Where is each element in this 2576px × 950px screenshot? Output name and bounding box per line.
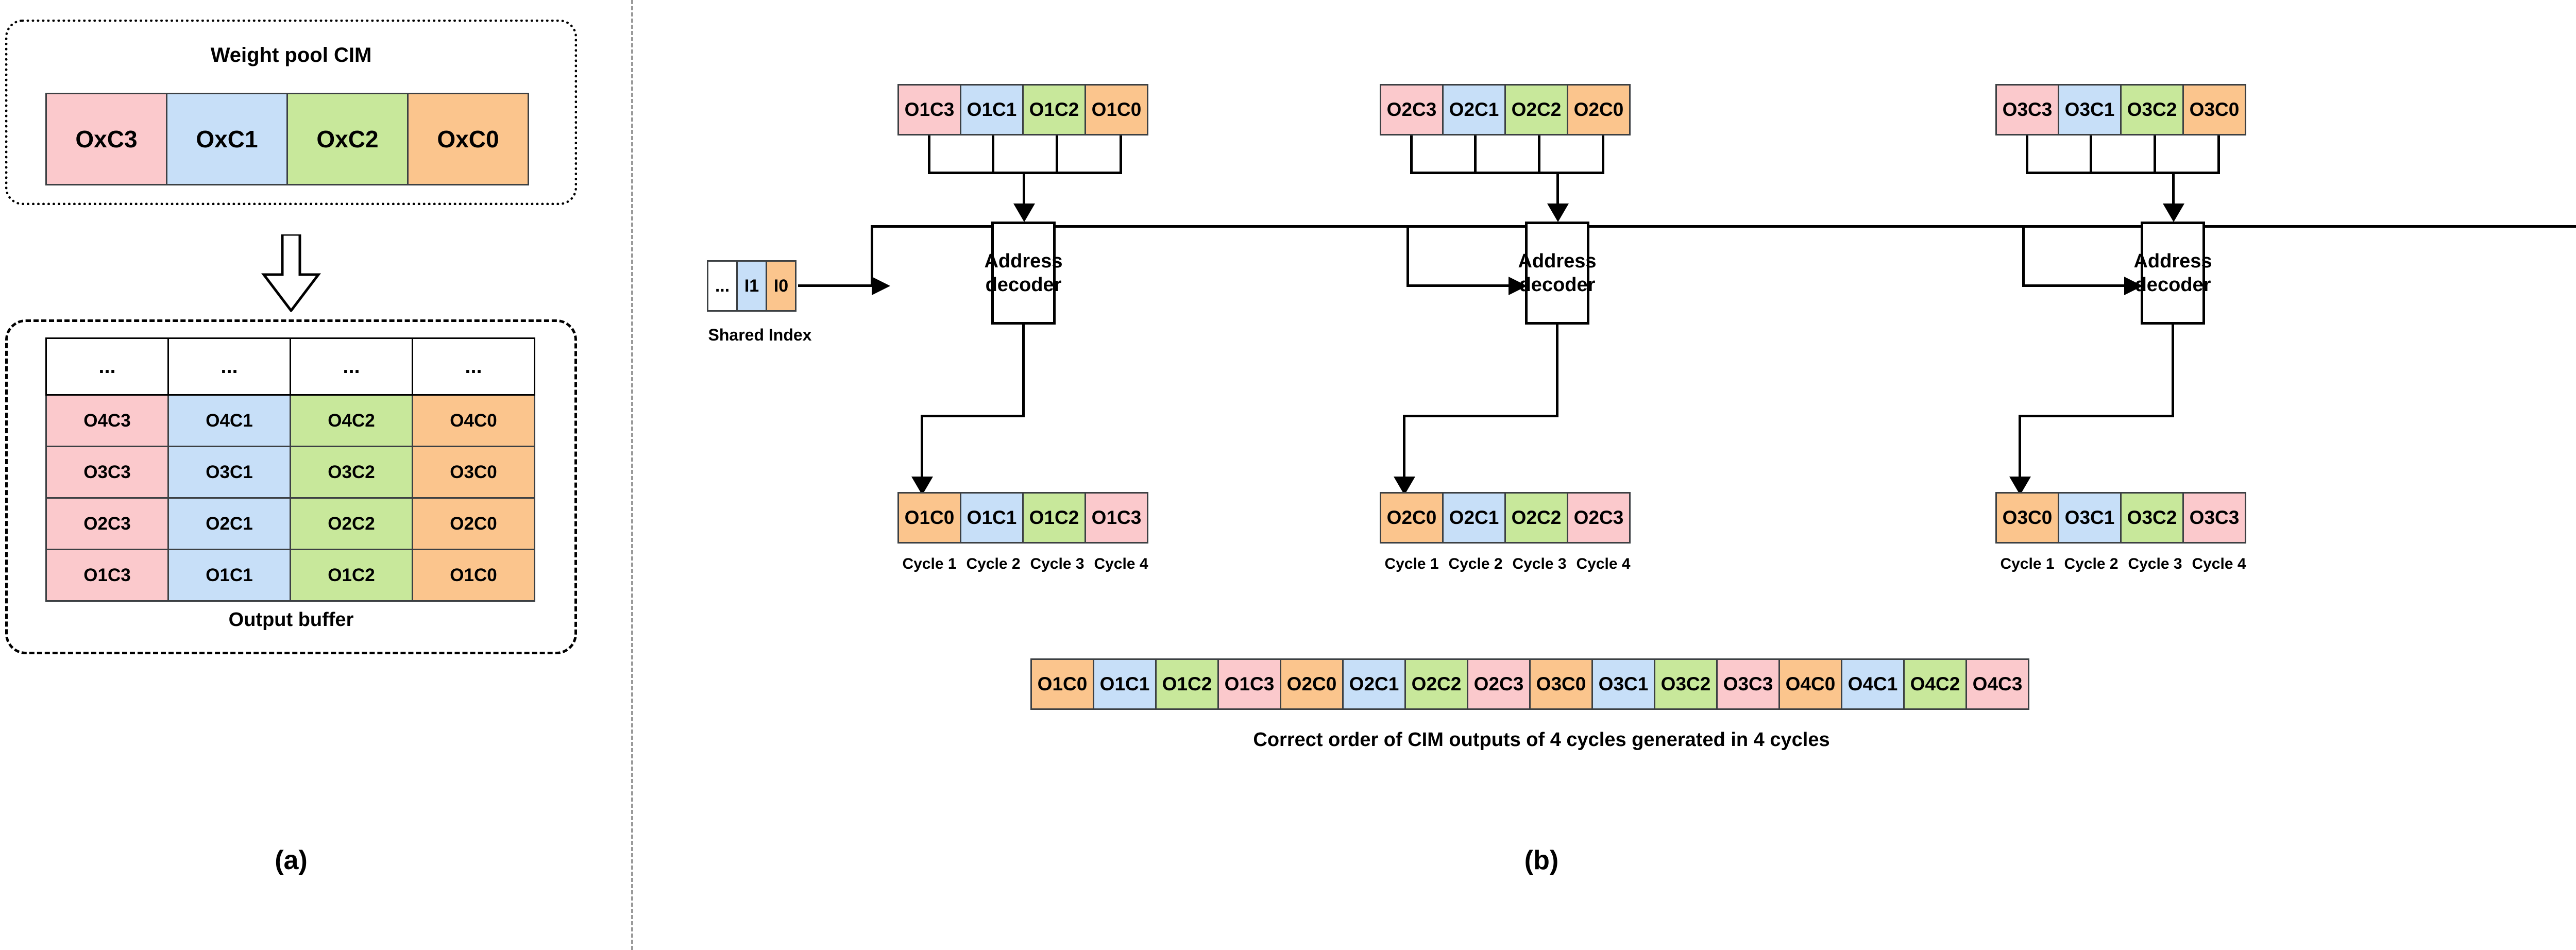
cim-output-cell: O1C3 bbox=[1084, 492, 1148, 544]
decoder-label-line2: decoder bbox=[1519, 273, 1596, 297]
final-sequence-cell: O1C0 bbox=[1030, 658, 1094, 710]
buffer-cell: O2C1 bbox=[168, 498, 291, 550]
cim-output-cell: O1C2 bbox=[1022, 492, 1086, 544]
cim-output-cell: O2C1 bbox=[1442, 492, 1506, 544]
cim-input-cell: O1C3 bbox=[897, 84, 961, 135]
cim-input-cell: O1C0 bbox=[1084, 84, 1148, 135]
cycle-label: Cycle 2 bbox=[2059, 555, 2123, 573]
final-sequence-cell: O4C2 bbox=[1903, 658, 1967, 710]
weight-pool-cim-title: Weight pool CIM bbox=[5, 44, 577, 67]
cim-input-cell: O3C3 bbox=[1995, 84, 2059, 135]
cim-output-cell: O3C0 bbox=[1995, 492, 2059, 544]
cycle-label: Cycle 1 bbox=[897, 555, 961, 573]
buffer-cell: O1C3 bbox=[46, 550, 168, 601]
shared-index-cell: I1 bbox=[736, 260, 767, 312]
buffer-cell: O4C1 bbox=[168, 395, 291, 447]
final-sequence-cell: O4C0 bbox=[1778, 658, 1842, 710]
buffer-cell: O3C0 bbox=[413, 447, 535, 498]
buffer-cell: O2C3 bbox=[46, 498, 168, 550]
shared-index-cell: ... bbox=[707, 260, 738, 312]
decoder-label-line1: Address bbox=[2133, 249, 2212, 273]
cim-output-cell: O2C0 bbox=[1380, 492, 1444, 544]
address-decoder-3: Address decoder bbox=[2141, 222, 2205, 325]
final-sequence-cell: O2C3 bbox=[1467, 658, 1531, 710]
shared-index-caption: Shared Index bbox=[685, 326, 835, 345]
table-row: O2C3 O2C1 O2C2 O2C0 bbox=[46, 498, 535, 550]
buffer-cell: O2C2 bbox=[291, 498, 413, 550]
cycle-label: Cycle 4 bbox=[1089, 555, 1153, 573]
final-sequence-row: O1C0 O1C1 O1C2 O1C3 O2C0 O2C1 O2C2 O2C3 … bbox=[1030, 658, 2029, 710]
arrow-head-icon bbox=[2163, 203, 2184, 222]
cim-output-cell: O1C0 bbox=[897, 492, 961, 544]
final-sequence-cell: O2C0 bbox=[1280, 658, 1344, 710]
cim-input-row-group-2: O2C3 O2C1 O2C2 O2C0 bbox=[1380, 84, 1631, 135]
final-sequence-cell: O1C1 bbox=[1093, 658, 1157, 710]
cycle-label: Cycle 2 bbox=[1444, 555, 1507, 573]
final-sequence-caption: Correct order of CIM outputs of 4 cycles… bbox=[1030, 729, 2053, 751]
shared-index-out-wire bbox=[798, 284, 873, 287]
decoder-label-line2: decoder bbox=[986, 273, 1062, 297]
table-row: O3C3 O3C1 O3C2 O3C0 bbox=[46, 447, 535, 498]
weight-pool-cim-strip: OxC3 OxC1 OxC2 OxC0 bbox=[45, 93, 529, 185]
buffer-head-cell: ... bbox=[168, 338, 291, 395]
shared-index-cell: I0 bbox=[766, 260, 796, 312]
shared-index-tap-3 bbox=[2022, 225, 2025, 286]
decoder-label-line1: Address bbox=[984, 249, 1062, 273]
cycle-label: Cycle 3 bbox=[1025, 555, 1089, 573]
address-decoder-1: Address decoder bbox=[991, 222, 1056, 325]
buffer-cell: O3C2 bbox=[291, 447, 413, 498]
panel-a-letter: (a) bbox=[5, 845, 577, 876]
buffer-cell: O1C1 bbox=[168, 550, 291, 601]
cim-input-cell: O1C2 bbox=[1022, 84, 1086, 135]
decoder-label-line1: Address bbox=[1518, 249, 1596, 273]
final-sequence-cell: O4C1 bbox=[1841, 658, 1905, 710]
buffer-cell: O2C0 bbox=[413, 498, 535, 550]
panel-b-letter: (b) bbox=[1030, 845, 2053, 876]
panel-a: Weight pool CIM OxC3 OxC1 OxC2 OxC0 ... … bbox=[0, 0, 616, 950]
cim-input-cell: O3C0 bbox=[2182, 84, 2246, 135]
cim-input-row-group-3: O3C3 O3C1 O3C2 O3C0 bbox=[1995, 84, 2246, 135]
final-sequence-cell: O1C2 bbox=[1155, 658, 1219, 710]
shared-index-strip: ... I1 I0 bbox=[707, 260, 796, 312]
panel-divider bbox=[631, 0, 633, 950]
buffer-cell: O1C0 bbox=[413, 550, 535, 601]
table-row: O1C3 O1C1 O1C2 O1C0 bbox=[46, 550, 535, 601]
buffer-cell: O3C1 bbox=[168, 447, 291, 498]
down-arrow-icon bbox=[260, 234, 322, 314]
cim-input-cell: O2C0 bbox=[1567, 84, 1631, 135]
buffer-head-cell: ... bbox=[291, 338, 413, 395]
cycle-label: Cycle 4 bbox=[1571, 555, 1635, 573]
cycle-label: Cycle 1 bbox=[1380, 555, 1444, 573]
final-sequence-cell: O2C2 bbox=[1404, 658, 1468, 710]
cim-output-cell: O3C2 bbox=[2120, 492, 2184, 544]
buffer-cell: O4C0 bbox=[413, 395, 535, 447]
cycle-label: Cycle 1 bbox=[1995, 555, 2059, 573]
weight-cell: OxC3 bbox=[45, 93, 167, 185]
final-sequence-cell: O3C1 bbox=[1591, 658, 1655, 710]
shared-index-feed-3 bbox=[2022, 284, 2125, 287]
buffer-cell: O1C2 bbox=[291, 550, 413, 601]
weight-cell: OxC2 bbox=[286, 93, 409, 185]
buffer-cell: O3C3 bbox=[46, 447, 168, 498]
buffer-cell: O4C3 bbox=[46, 395, 168, 447]
cim-input-cell: O3C2 bbox=[2120, 84, 2184, 135]
cim-output-cell: O3C1 bbox=[2058, 492, 2122, 544]
cim-input-cell: O2C2 bbox=[1504, 84, 1568, 135]
cim-input-row-group-1: O1C3 O1C1 O1C2 O1C0 bbox=[897, 84, 1148, 135]
output-buffer-table: ... ... ... ... O4C3 O4C1 O4C2 O4C0 O3C3… bbox=[45, 337, 535, 602]
final-sequence-cell: O4C3 bbox=[1965, 658, 2029, 710]
output-buffer-caption: Output buffer bbox=[5, 609, 577, 631]
table-row: ... ... ... ... bbox=[46, 338, 535, 395]
decoder-label-line2: decoder bbox=[2135, 273, 2211, 297]
buffer-head-cell: ... bbox=[46, 338, 168, 395]
shared-index-feed-2 bbox=[1406, 284, 1510, 287]
cim-output-cell: O3C3 bbox=[2182, 492, 2246, 544]
cycle-label: Cycle 3 bbox=[1507, 555, 1571, 573]
cycle-label: Cycle 2 bbox=[961, 555, 1025, 573]
arrow-head-icon bbox=[1547, 203, 1569, 222]
cycle-label: Cycle 4 bbox=[2187, 555, 2251, 573]
final-sequence-cell: O1C3 bbox=[1217, 658, 1281, 710]
address-decoder-2: Address decoder bbox=[1525, 222, 1589, 325]
cim-output-cell: O2C2 bbox=[1504, 492, 1568, 544]
panel-b: O1C3 O1C1 O1C2 O1C0 ... I1 I0 Shared Ind… bbox=[670, 0, 2576, 950]
final-sequence-cell: O3C3 bbox=[1716, 658, 1780, 710]
cim-output-row-group-3: O3C0 O3C1 O3C2 O3C3 bbox=[1995, 492, 2246, 544]
cim-output-cell: O1C1 bbox=[960, 492, 1024, 544]
buffer-cell: O4C2 bbox=[291, 395, 413, 447]
cim-input-cell: O3C1 bbox=[2058, 84, 2122, 135]
buffer-head-cell: ... bbox=[413, 338, 535, 395]
weight-cell: OxC1 bbox=[166, 93, 288, 185]
table-row: O4C3 O4C1 O4C2 O4C0 bbox=[46, 395, 535, 447]
arrow-head-icon bbox=[2124, 277, 2143, 295]
cim-input-cell: O2C1 bbox=[1442, 84, 1506, 135]
arrow-head-icon bbox=[1509, 277, 1527, 295]
arrow-head-icon bbox=[1013, 203, 1035, 222]
final-sequence-cell: O2C1 bbox=[1342, 658, 1406, 710]
weight-cell: OxC0 bbox=[407, 93, 529, 185]
cim-output-cell: O2C3 bbox=[1567, 492, 1631, 544]
final-sequence-cell: O3C2 bbox=[1654, 658, 1718, 710]
final-sequence-cell: O3C0 bbox=[1529, 658, 1593, 710]
cim-input-cell: O2C3 bbox=[1380, 84, 1444, 135]
shared-index-tap-2 bbox=[1406, 225, 1409, 286]
cycle-label: Cycle 3 bbox=[2123, 555, 2187, 573]
cim-output-row-group-1: O1C0 O1C1 O1C2 O1C3 bbox=[897, 492, 1148, 544]
cim-output-row-group-2: O2C0 O2C1 O2C2 O2C3 bbox=[1380, 492, 1631, 544]
cim-input-cell: O1C1 bbox=[960, 84, 1024, 135]
arrow-head-icon bbox=[872, 277, 890, 295]
